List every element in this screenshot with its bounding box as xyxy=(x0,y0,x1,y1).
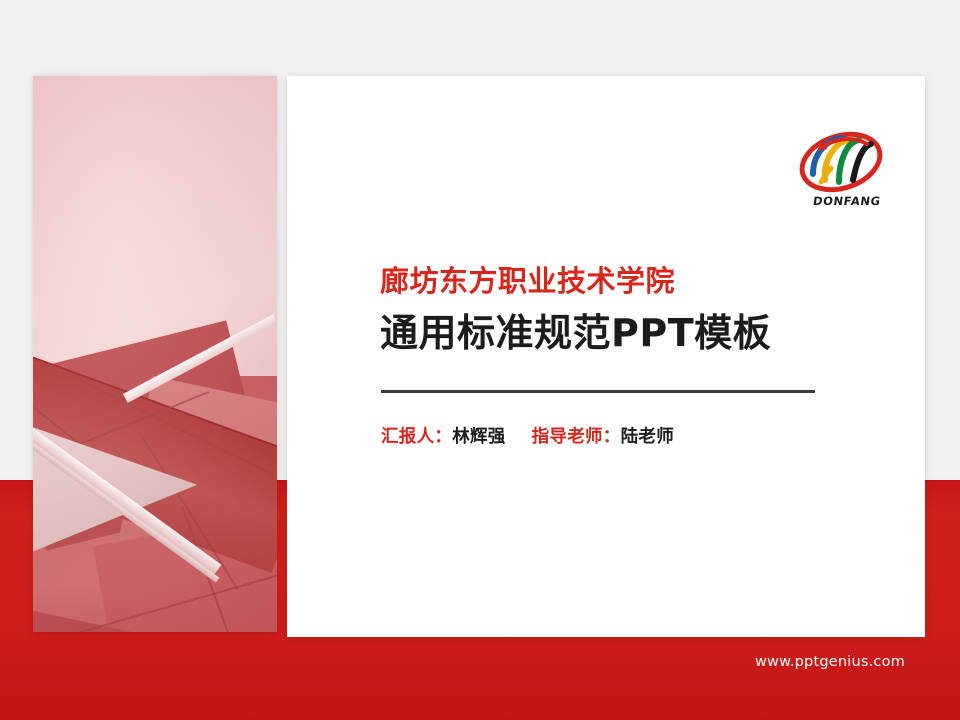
organization-name: 廊坊东方职业技术学院 xyxy=(380,265,880,298)
presenter-label: 汇报人： xyxy=(381,427,452,447)
presentation-slide: www.pptgenius.com xyxy=(0,0,960,720)
advisor-name: 陆老师 xyxy=(621,427,674,447)
presenter-name: 林辉强 xyxy=(452,427,505,447)
title-divider xyxy=(381,390,815,393)
page-title: 通用标准规范PPT模板 xyxy=(380,311,880,357)
title-block: 廊坊东方职业技术学院 通用标准规范PPT模板 xyxy=(380,265,880,357)
logo-wordmark: DONFANG xyxy=(812,194,882,208)
cover-photo xyxy=(33,76,277,632)
presenter-meta: 汇报人：林辉强指导老师：陆老师 xyxy=(381,423,674,448)
photo-vignette xyxy=(33,76,277,632)
donfang-logo: DONFANG xyxy=(787,118,895,210)
advisor-label: 指导老师： xyxy=(532,427,621,447)
footer-url[interactable]: www.pptgenius.com xyxy=(755,654,905,670)
